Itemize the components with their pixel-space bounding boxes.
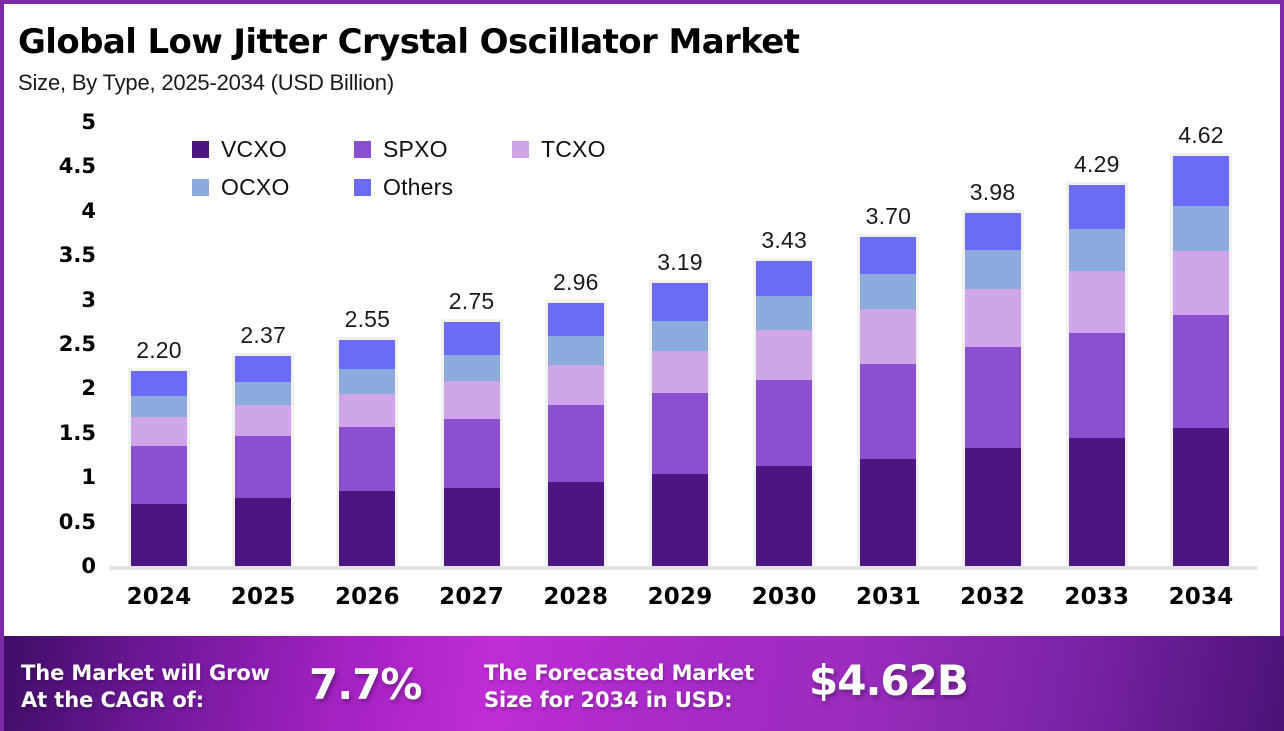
stacked-bar[interactable] bbox=[1173, 156, 1229, 566]
chart-legend: VCXO SPXO TCXO OCXO bbox=[192, 130, 662, 206]
y-axis-tick: 0.5 bbox=[4, 510, 96, 534]
page-title: Global Low Jitter Crystal Oscillator Mar… bbox=[18, 22, 1270, 62]
bar-segment-spxo[interactable] bbox=[444, 419, 500, 488]
bar-segment-vcxo[interactable] bbox=[1069, 438, 1125, 566]
plot-area: VCXO SPXO TCXO OCXO bbox=[104, 122, 1280, 566]
bar-value-label: 2.96 bbox=[516, 269, 636, 296]
bar-segment-ocxo[interactable] bbox=[339, 369, 395, 394]
bar-segment-tcxo[interactable] bbox=[444, 381, 500, 418]
bar-segment-others[interactable] bbox=[652, 283, 708, 321]
stacked-bar[interactable] bbox=[965, 213, 1021, 566]
summary-banner: The Market will Grow At the CAGR of: 7.7… bbox=[4, 636, 1284, 731]
bar-segment-vcxo[interactable] bbox=[652, 474, 708, 566]
forecast-label: The Forecasted Market Size for 2034 in U… bbox=[484, 660, 794, 714]
bar-segment-others[interactable] bbox=[756, 261, 812, 296]
bar-value-label: 2.55 bbox=[307, 306, 427, 333]
header: Global Low Jitter Crystal Oscillator Mar… bbox=[18, 22, 1270, 96]
x-axis-label: 2024 bbox=[99, 584, 219, 610]
stacked-bar[interactable] bbox=[339, 340, 395, 566]
bar-segment-spxo[interactable] bbox=[1069, 333, 1125, 438]
legend-swatch-ocxo bbox=[192, 179, 209, 196]
legend-item-spxo[interactable]: SPXO bbox=[354, 136, 512, 163]
y-axis-tick: 0 bbox=[4, 554, 96, 578]
y-axis-tick: 3 bbox=[4, 288, 96, 312]
bar-segment-others[interactable] bbox=[131, 371, 187, 397]
bar-segment-others[interactable] bbox=[339, 340, 395, 369]
stacked-bar[interactable] bbox=[1069, 185, 1125, 566]
bar-segment-ocxo[interactable] bbox=[652, 321, 708, 351]
legend-item-ocxo[interactable]: OCXO bbox=[192, 174, 354, 201]
bar-segment-others[interactable] bbox=[444, 322, 500, 355]
x-axis-label: 2030 bbox=[724, 584, 844, 610]
stacked-bar[interactable] bbox=[235, 356, 291, 566]
legend-item-tcxo[interactable]: TCXO bbox=[512, 136, 606, 163]
y-axis-tick: 4 bbox=[4, 199, 96, 223]
bar-value-label: 2.20 bbox=[99, 337, 219, 364]
legend-row-1: VCXO SPXO TCXO bbox=[192, 130, 662, 168]
bar-segment-others[interactable] bbox=[965, 213, 1021, 250]
y-axis-tick: 4.5 bbox=[4, 154, 96, 178]
bar-segment-ocxo[interactable] bbox=[756, 296, 812, 330]
bar-segment-vcxo[interactable] bbox=[131, 504, 187, 566]
bar-segment-tcxo[interactable] bbox=[1173, 251, 1229, 315]
y-axis: 00.511.522.533.544.55 bbox=[4, 122, 96, 566]
bar-segment-tcxo[interactable] bbox=[548, 365, 604, 405]
stacked-bar[interactable] bbox=[860, 237, 916, 566]
bar-value-label: 2.75 bbox=[412, 288, 532, 315]
bar-segment-tcxo[interactable] bbox=[1069, 271, 1125, 333]
y-axis-tick: 5 bbox=[4, 110, 96, 134]
bar-segment-others[interactable] bbox=[235, 356, 291, 383]
bar-segment-ocxo[interactable] bbox=[131, 396, 187, 416]
bar-segment-spxo[interactable] bbox=[756, 380, 812, 466]
bar-segment-tcxo[interactable] bbox=[756, 330, 812, 380]
bar-segment-tcxo[interactable] bbox=[965, 289, 1021, 347]
stacked-bar[interactable] bbox=[548, 303, 604, 566]
x-axis-label: 2033 bbox=[1037, 584, 1157, 610]
bar-segment-tcxo[interactable] bbox=[235, 405, 291, 436]
legend-label-ocxo: OCXO bbox=[221, 174, 290, 201]
stacked-bar[interactable] bbox=[756, 261, 812, 566]
bar-segment-vcxo[interactable] bbox=[339, 491, 395, 566]
y-axis-tick: 3.5 bbox=[4, 243, 96, 267]
stacked-bar[interactable] bbox=[444, 322, 500, 566]
bar-segment-ocxo[interactable] bbox=[965, 250, 1021, 289]
bar-value-label: 3.98 bbox=[933, 179, 1053, 206]
legend-row-2: OCXO Others bbox=[192, 168, 662, 206]
bar-segment-vcxo[interactable] bbox=[756, 466, 812, 566]
bar-segment-vcxo[interactable] bbox=[444, 488, 500, 566]
chart-area: 00.511.522.533.544.55 VCXO SPXO TCXO bbox=[4, 122, 1280, 634]
legend-label-others: Others bbox=[383, 174, 453, 201]
legend-swatch-vcxo bbox=[192, 141, 209, 158]
bar-segment-vcxo[interactable] bbox=[860, 459, 916, 566]
legend-swatch-others bbox=[354, 179, 371, 196]
bar-segment-others[interactable] bbox=[548, 303, 604, 336]
bar-segment-spxo[interactable] bbox=[652, 393, 708, 474]
bar-segment-ocxo[interactable] bbox=[235, 382, 291, 405]
x-axis-label: 2034 bbox=[1141, 584, 1261, 610]
legend-swatch-spxo bbox=[354, 141, 371, 158]
bar-segment-tcxo[interactable] bbox=[131, 417, 187, 446]
x-axis-label: 2029 bbox=[620, 584, 740, 610]
bar-segment-ocxo[interactable] bbox=[1173, 206, 1229, 250]
bar-segment-tcxo[interactable] bbox=[652, 351, 708, 393]
infographic-root: Global Low Jitter Crystal Oscillator Mar… bbox=[0, 0, 1284, 731]
x-axis-label: 2032 bbox=[933, 584, 1053, 610]
bar-segment-spxo[interactable] bbox=[860, 364, 916, 458]
bar-value-label: 3.43 bbox=[724, 227, 844, 254]
bar-segment-vcxo[interactable] bbox=[235, 498, 291, 566]
bar-segment-spxo[interactable] bbox=[339, 427, 395, 491]
legend-label-tcxo: TCXO bbox=[541, 136, 606, 163]
bar-segment-others[interactable] bbox=[860, 237, 916, 273]
legend-item-others[interactable]: Others bbox=[354, 174, 512, 201]
y-axis-tick: 2 bbox=[4, 376, 96, 400]
bar-segment-tcxo[interactable] bbox=[860, 309, 916, 364]
bar-segment-spxo[interactable] bbox=[235, 436, 291, 497]
page-subtitle: Size, By Type, 2025-2034 (USD Billion) bbox=[18, 69, 1270, 96]
cagr-label: The Market will Grow At the CAGR of: bbox=[21, 660, 301, 714]
bar-value-label: 2.37 bbox=[203, 322, 323, 349]
bar-value-label: 4.62 bbox=[1141, 122, 1261, 149]
bar-segment-vcxo[interactable] bbox=[965, 448, 1021, 566]
y-axis-tick: 1.5 bbox=[4, 421, 96, 445]
x-axis-label: 2031 bbox=[828, 584, 948, 610]
x-axis-label: 2028 bbox=[516, 584, 636, 610]
y-axis-tick: 1 bbox=[4, 465, 96, 489]
x-axis-label: 2025 bbox=[203, 584, 323, 610]
forecast-value: $4.62B bbox=[809, 656, 1019, 705]
bar-segment-ocxo[interactable] bbox=[1069, 229, 1125, 271]
bar-value-label: 4.29 bbox=[1037, 151, 1157, 178]
cagr-value: 7.7% bbox=[309, 660, 469, 709]
bar-segment-spxo[interactable] bbox=[548, 405, 604, 481]
legend-label-spxo: SPXO bbox=[383, 136, 448, 163]
bar-segment-ocxo[interactable] bbox=[548, 336, 604, 365]
bar-segment-spxo[interactable] bbox=[965, 347, 1021, 448]
bar-value-label: 3.70 bbox=[828, 203, 948, 230]
bar-segment-tcxo[interactable] bbox=[339, 394, 395, 428]
bar-segment-others[interactable] bbox=[1173, 156, 1229, 207]
axis-baseline bbox=[109, 566, 1258, 570]
legend-swatch-tcxo bbox=[512, 141, 529, 158]
bar-segment-vcxo[interactable] bbox=[548, 482, 604, 566]
bar-segment-vcxo[interactable] bbox=[1173, 428, 1229, 566]
stacked-bar[interactable] bbox=[652, 283, 708, 566]
bar-segment-others[interactable] bbox=[1069, 185, 1125, 229]
bar-segment-ocxo[interactable] bbox=[444, 355, 500, 382]
y-axis-tick: 2.5 bbox=[4, 332, 96, 356]
bar-value-label: 3.19 bbox=[620, 249, 740, 276]
x-axis-label: 2027 bbox=[412, 584, 532, 610]
bar-segment-spxo[interactable] bbox=[131, 446, 187, 504]
legend-label-vcxo: VCXO bbox=[221, 136, 287, 163]
x-axis-label: 2026 bbox=[307, 584, 427, 610]
legend-item-vcxo[interactable]: VCXO bbox=[192, 136, 354, 163]
bar-segment-spxo[interactable] bbox=[1173, 315, 1229, 429]
stacked-bar[interactable] bbox=[131, 371, 187, 566]
bar-segment-ocxo[interactable] bbox=[860, 274, 916, 310]
